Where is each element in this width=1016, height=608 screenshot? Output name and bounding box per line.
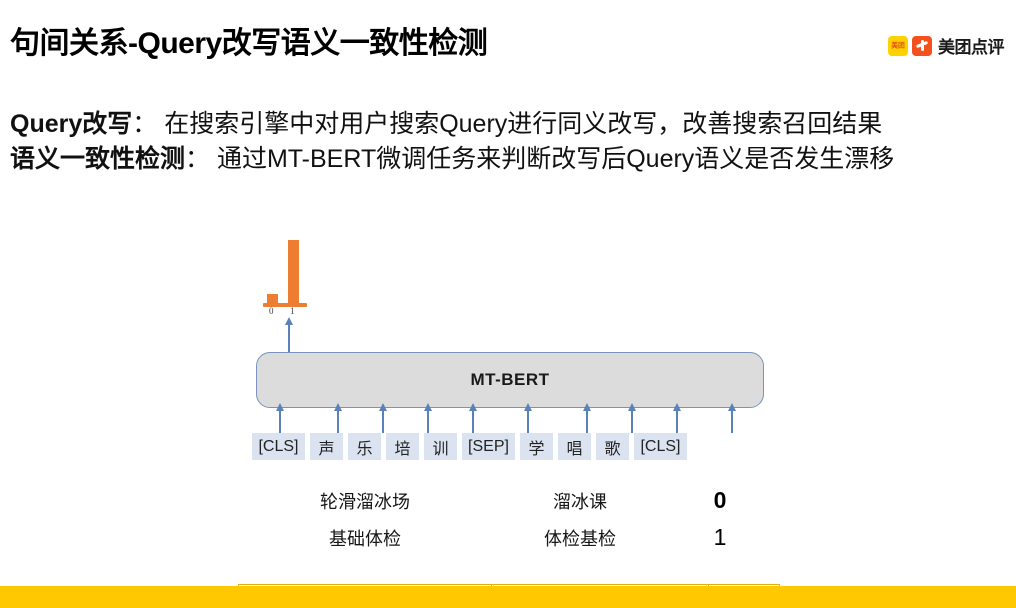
tick-label-0: 0 [269,306,274,316]
tick-label-1: 1 [290,306,295,316]
token-arrow-5-icon [472,410,474,433]
example-rewrite: 体检基检 [480,525,680,551]
paragraph-2-lead: 语义一致性检测 [10,145,185,173]
paragraph-query-rewrite: Query改写： 在搜索引擎中对用户搜索Query进行同义改写，改善搜索召回结果 [10,108,1010,141]
example-row: 轮滑溜冰场 溜冰课 0 [250,487,790,524]
token-item: 声 [310,433,343,460]
token-sequence: [CLS] 声 乐 培 训 [SEP] 学 唱 歌 [CLS] [252,433,692,460]
arrow-model-to-chart-icon [288,324,290,352]
brand-name: 美团点评 [938,33,1004,58]
mt-bert-label: MT-BERT [470,370,549,390]
page-title: 句间关系-Query改写语义一致性检测 [10,18,487,62]
token-item: 歌 [596,433,629,460]
token-arrow-4-icon [427,410,429,433]
example-row: 基础体检 体检基检 1 [250,524,790,561]
token-arrow-1-icon [279,410,281,433]
meituan-badge-text: 美团 [891,42,905,49]
example-list: 轮滑溜冰场 溜冰课 0 基础体检 体检基检 1 [250,487,790,561]
example-label: 0 [680,487,760,514]
token-item: [SEP] [462,433,515,460]
token-arrow-7-icon [586,410,588,433]
token-arrow-6-icon [527,410,529,433]
example-query: 轮滑溜冰场 [250,488,480,514]
token-item: 学 [520,433,553,460]
barchart-plot-area [262,240,310,304]
token-item: 训 [424,433,457,460]
footer-accent-bar [0,586,1016,608]
token-item: [CLS] [634,433,687,460]
paragraph-1-rest: ： 在搜索引擎中对用户搜索Query进行同义改写，改善搜索召回结果 [132,110,882,138]
output-distribution-barchart: 0 1 [262,240,310,318]
token-item: 培 [386,433,419,460]
example-label: 1 [680,524,760,551]
token-arrow-10-icon [731,410,733,433]
paragraph-semantic-consistency: 语义一致性检测： 通过MT-BERT微调任务来判断改写后Query语义是否发生漂… [10,143,1010,176]
meituan-yellow-badge-icon: 美团 [888,36,908,56]
paragraph-2-rest: ： 通过MT-BERT微调任务来判断改写后Query语义是否发生漂移 [185,145,894,173]
token-arrow-2-icon [337,410,339,433]
mt-bert-model-box: MT-BERT [256,352,764,408]
example-query: 基础体检 [250,525,480,551]
body-copy: Query改写： 在搜索引擎中对用户搜索Query进行同义改写，改善搜索召回结果… [10,108,1010,176]
brand-logo: 美团 美团点评 [888,33,1004,58]
example-rewrite: 溜冰课 [480,488,680,514]
bar-label-1 [288,240,299,304]
token-arrow-3-icon [382,410,384,433]
token-arrow-8-icon [631,410,633,433]
kangaroo-icon [912,36,932,56]
token-item: 乐 [348,433,381,460]
token-item: 唱 [558,433,591,460]
paragraph-1-lead: Query改写 [10,110,132,138]
token-arrow-9-icon [676,410,678,433]
token-item: [CLS] [252,433,305,460]
